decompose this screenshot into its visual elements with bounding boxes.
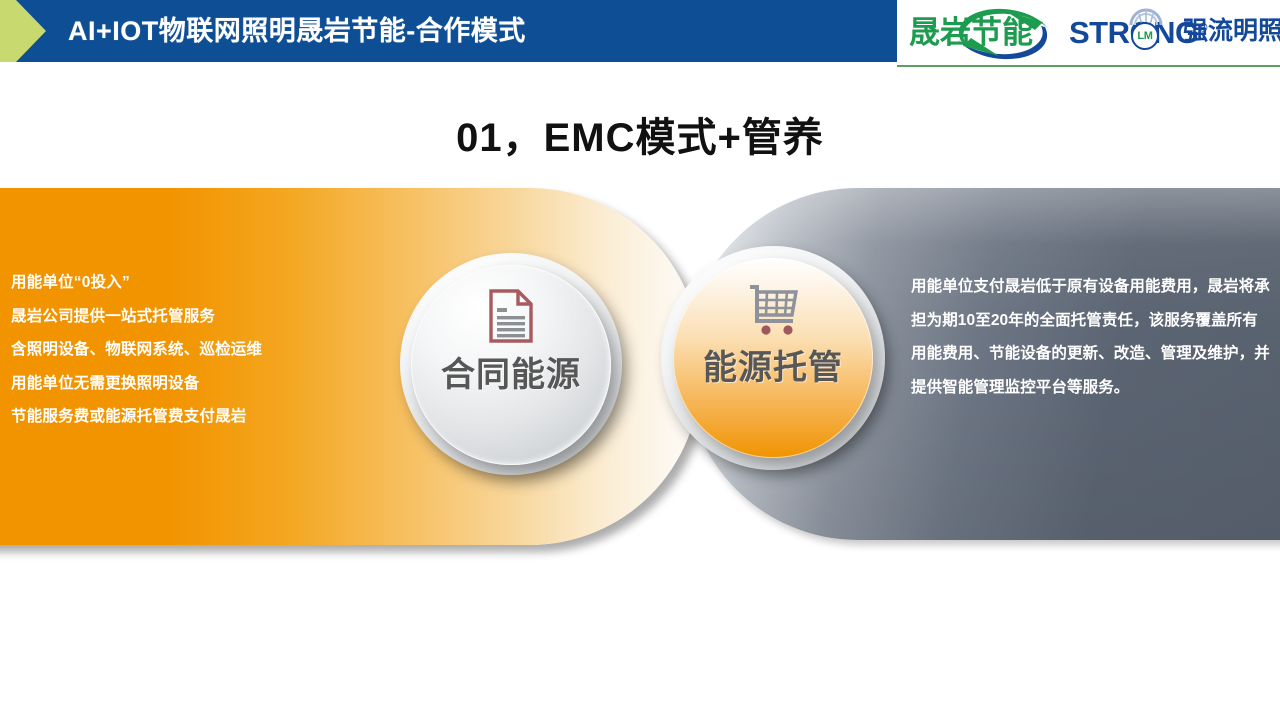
document-icon (488, 287, 534, 345)
company-logo: 晟岩节能 STRONG® LM 强流明照明 (897, 0, 1280, 67)
orange-text-line: 节能服务费或能源托管费支付晟岩 (11, 400, 341, 434)
circle-energy-hosting[interactable]: 能源托管 (673, 258, 873, 458)
shopping-cart-icon (746, 280, 800, 338)
slide-canvas: AI+IOT物联网照明晟岩节能-合作模式 晟岩节能 STRONG® (0, 0, 1280, 720)
orange-panel-text: 用能单位“0投入” 晟岩公司提供一站式托管服务 含照明设备、物联网系统、巡检运维… (11, 266, 341, 434)
lm-badge-icon: LM (1131, 22, 1159, 50)
circle-energy-hosting-label: 能源托管 (703, 346, 843, 390)
orange-text-line: 用能单位“0投入” (11, 266, 341, 300)
logo-brand-cn: 晟岩节能 (909, 14, 1069, 52)
circle-contract-energy[interactable]: 合同能源 (411, 265, 611, 465)
circle-contract-energy-label: 合同能源 (441, 353, 581, 397)
logo-brand-cn-wrap: 晟岩节能 (909, 8, 1069, 58)
lm-badge-label: LM (1137, 31, 1152, 42)
orange-text-line: 用能单位无需更换照明设备 (11, 367, 341, 401)
orange-text-line: 晟岩公司提供一站式托管服务 (11, 300, 341, 334)
orange-text-line: 含照明设备、物联网系统、巡检运维 (11, 333, 341, 367)
logo-brand-cn-secondary: 强流明照明 (1183, 16, 1280, 46)
page-title: 01，EMC模式+管养 (0, 112, 1280, 164)
chevron-right-icon (0, 0, 46, 62)
header-title: AI+IOT物联网照明晟岩节能-合作模式 (68, 10, 526, 52)
gray-panel-text: 用能单位支付晟岩低于原有设备用能费用，晟岩将承担为期10至20年的全面托管责任，… (911, 270, 1273, 404)
